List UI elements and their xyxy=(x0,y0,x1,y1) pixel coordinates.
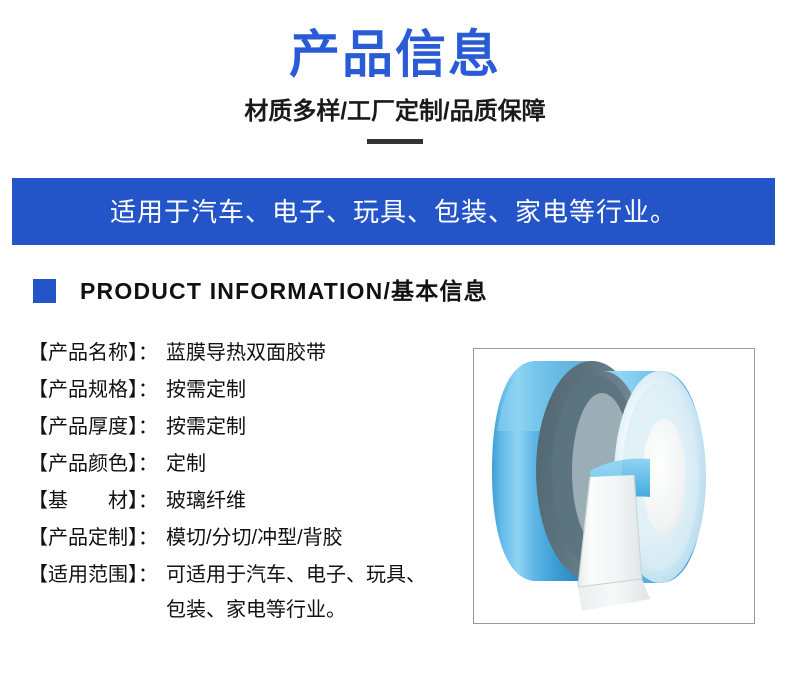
square-bullet-icon xyxy=(33,279,56,303)
spec-row: 【产品厚度】：按需定制 xyxy=(28,413,448,441)
spec-row: 【产品定制】：模切/分切/冲型/背胶 xyxy=(28,524,448,552)
spec-label: 【产品定制】： xyxy=(28,524,158,552)
divider-wrap xyxy=(0,138,790,144)
spec-value: 按需定制 xyxy=(166,413,246,441)
section-heading: PRODUCT INFORMATION/基本信息 xyxy=(33,278,488,304)
spec-value: 蓝膜导热双面胶带 xyxy=(166,339,326,367)
spec-label: 【基 材】： xyxy=(28,487,158,515)
spec-label: 【产品名称】： xyxy=(28,339,158,367)
section-heading-label: PRODUCT INFORMATION/基本信息 xyxy=(80,278,488,304)
page-header: 产品信息 材质多样/工厂定制/品质保障 xyxy=(0,0,790,144)
spec-value: 玻璃纤维 xyxy=(166,487,246,515)
spec-value: 可适用于汽车、电子、玩具、 xyxy=(166,561,426,589)
applications-banner-text: 适用于汽车、电子、玩具、包装、家电等行业。 xyxy=(110,197,677,227)
spec-value: 模切/分切/冲型/背胶 xyxy=(166,524,343,552)
product-photo-frame xyxy=(473,348,755,624)
page-title: 产品信息 xyxy=(0,26,790,84)
spec-value: 定制 xyxy=(166,450,206,478)
spec-row: 【产品颜色】：定制 xyxy=(28,450,448,478)
spec-label: 【适用范围】： xyxy=(28,561,158,589)
spec-row: 【基 材】：玻璃纤维 xyxy=(28,487,448,515)
spec-row: 【产品名称】：蓝膜导热双面胶带 xyxy=(28,339,448,367)
title-divider xyxy=(367,139,423,144)
spec-label: 【产品厚度】： xyxy=(28,413,158,441)
spec-label: 【产品颜色】： xyxy=(28,450,158,478)
page-subtitle: 材质多样/工厂定制/品质保障 xyxy=(0,97,790,127)
spec-value: 按需定制 xyxy=(166,376,246,404)
spec-value-continuation: 包装、家电等行业。 xyxy=(166,596,448,624)
spec-row: 【产品规格】：按需定制 xyxy=(28,376,448,404)
product-spec-list: 【产品名称】：蓝膜导热双面胶带【产品规格】：按需定制【产品厚度】：按需定制【产品… xyxy=(28,339,448,624)
spec-row: 【适用范围】：可适用于汽车、电子、玩具、 xyxy=(28,561,448,589)
applications-banner: 适用于汽车、电子、玩具、包装、家电等行业。 xyxy=(12,178,775,245)
product-photo-tape-rolls xyxy=(474,349,752,621)
spec-label: 【产品规格】： xyxy=(28,376,158,404)
